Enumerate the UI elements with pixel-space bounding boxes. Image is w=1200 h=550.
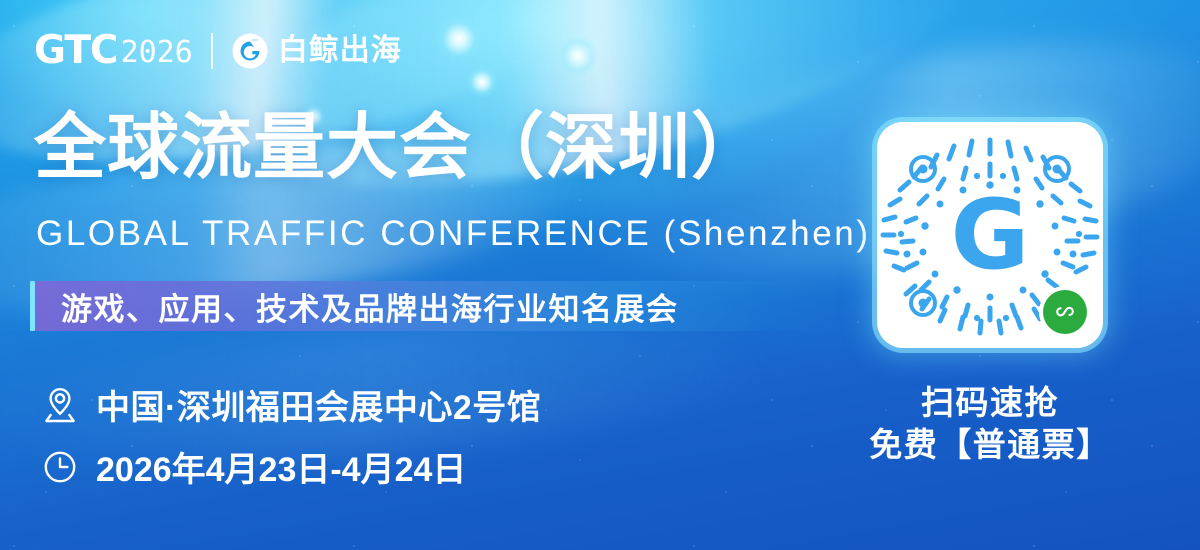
cta-text-block: 扫码速抢 免费【普通票】 <box>857 382 1123 466</box>
brand-logo[interactable]: 白鲸出海 <box>231 32 402 70</box>
gtc-logo[interactable]: GTC 2026 <box>34 31 193 70</box>
clock-icon <box>40 446 80 488</box>
qr-code-card[interactable]: G <box>877 122 1103 348</box>
cta-line-2: 免费【普通票】 <box>857 424 1123 466</box>
vertical-divider-icon <box>211 33 213 69</box>
whale-g-logo-icon <box>231 32 269 70</box>
qr-center-logo: G <box>951 187 1030 283</box>
page-title: 全球流量大会（深圳） <box>34 112 764 185</box>
tagline-bar: 游戏、应用、技术及品牌出海行业知名展会 <box>30 281 840 331</box>
wechat-miniprogram-badge-icon <box>1043 290 1087 334</box>
venue-text: 中国·深圳福田会展中心2号馆 <box>96 380 541 429</box>
date-text: 2026年4月23日-4月24日 <box>96 442 466 491</box>
location-pin-icon <box>40 384 80 426</box>
gtc-logo-year: 2026 <box>121 38 193 68</box>
tagline-text: 游戏、应用、技术及品牌出海行业知名展会 <box>61 284 679 329</box>
event-banner: GTC 2026 白鲸出海 全球流量大会（深圳） GLOBAL TRAFFIC … <box>0 0 1200 550</box>
date-row: 2026年4月23日-4月24日 <box>40 442 466 491</box>
gtc-logo-text: GTC <box>34 31 118 70</box>
venue-row: 中国·深圳福田会展中心2号馆 <box>40 380 541 429</box>
tagline-body: 游戏、应用、技术及品牌出海行业知名展会 <box>35 281 840 331</box>
cta-line-1: 扫码速抢 <box>857 382 1123 424</box>
logo-bar: GTC 2026 白鲸出海 <box>34 31 402 70</box>
brand-name-text: 白鲸出海 <box>278 36 402 66</box>
page-subtitle: GLOBAL TRAFFIC CONFERENCE (Shenzhen) <box>36 214 871 254</box>
